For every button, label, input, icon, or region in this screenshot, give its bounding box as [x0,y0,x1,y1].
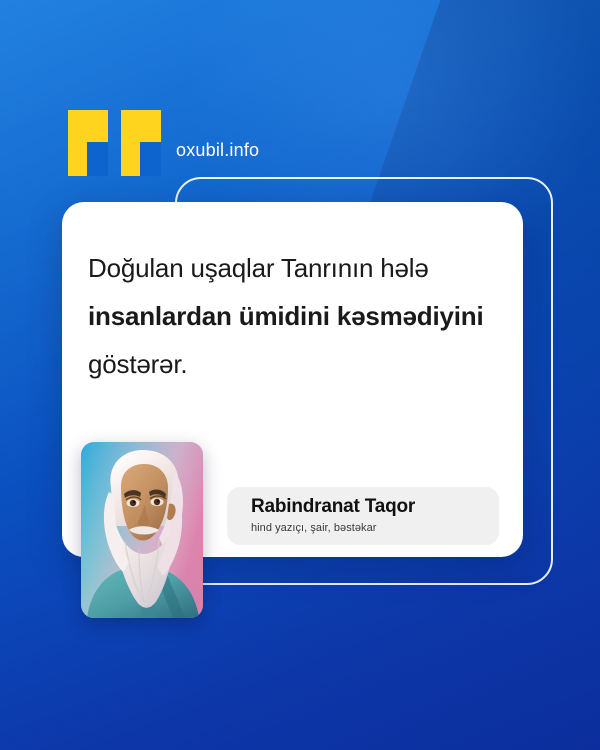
portrait-illustration [81,442,203,618]
author-name: Rabindranat Taqor [251,496,499,518]
quote-poster: oxubil.info Doğulan uşaqlar Tanrının həl… [0,0,600,750]
quote-text: Doğulan uşaqlar Tanrının hələ insanlarda… [88,244,488,388]
brand-label: oxubil.info [176,140,259,161]
attribution-chip: Rabindranat Taqor hind yazıçı, şair, bəs… [227,487,499,545]
quote-text-part3: göstərər. [88,349,187,379]
quote-mark-glyph-left [68,110,108,176]
quote-mark-glyph-right [121,110,161,176]
quote-text-part1: Doğulan uşaqlar Tanrının hələ [88,253,429,283]
quote-mark-icon [68,110,162,176]
author-portrait [81,442,203,618]
author-role: hind yazıçı, şair, bəstəkar [251,522,499,534]
quote-text-emphasis: insanlardan ümidini kəsmədiyini [88,301,483,331]
